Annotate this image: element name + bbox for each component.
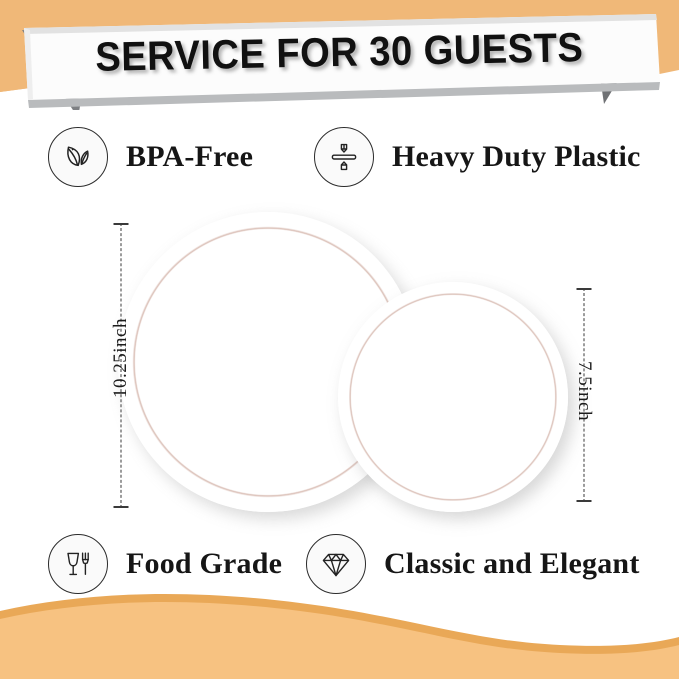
feature-heavy-duty-plastic: Heavy Duty Plastic — [314, 127, 641, 187]
feature-bpa-free: BPA-Free — [48, 127, 253, 187]
small-plate-image — [338, 282, 568, 512]
banner-headline: SERVICE FOR 30 GUESTS — [0, 0, 679, 117]
feature-label: BPA-Free — [126, 140, 253, 174]
feature-label: Heavy Duty Plastic — [392, 140, 641, 174]
dimension-cap-bottom — [114, 506, 129, 508]
dimension-label: 7.5inch — [573, 349, 595, 433]
banner: SERVICE FOR 30 GUESTS — [0, 0, 679, 110]
dimension-large-plate: 10.25inch — [113, 223, 129, 508]
leaf-icon — [48, 127, 108, 187]
dimension-small-plate: 7.5inch — [576, 288, 592, 502]
compression-arrows-icon — [314, 127, 374, 187]
dimension-label: 10.25inch — [110, 308, 132, 408]
infographic-canvas: SERVICE FOR 30 GUESTS BPA-Free — [0, 0, 679, 679]
dimension-cap-bottom — [577, 500, 592, 502]
bottom-orange-wave — [0, 569, 679, 679]
